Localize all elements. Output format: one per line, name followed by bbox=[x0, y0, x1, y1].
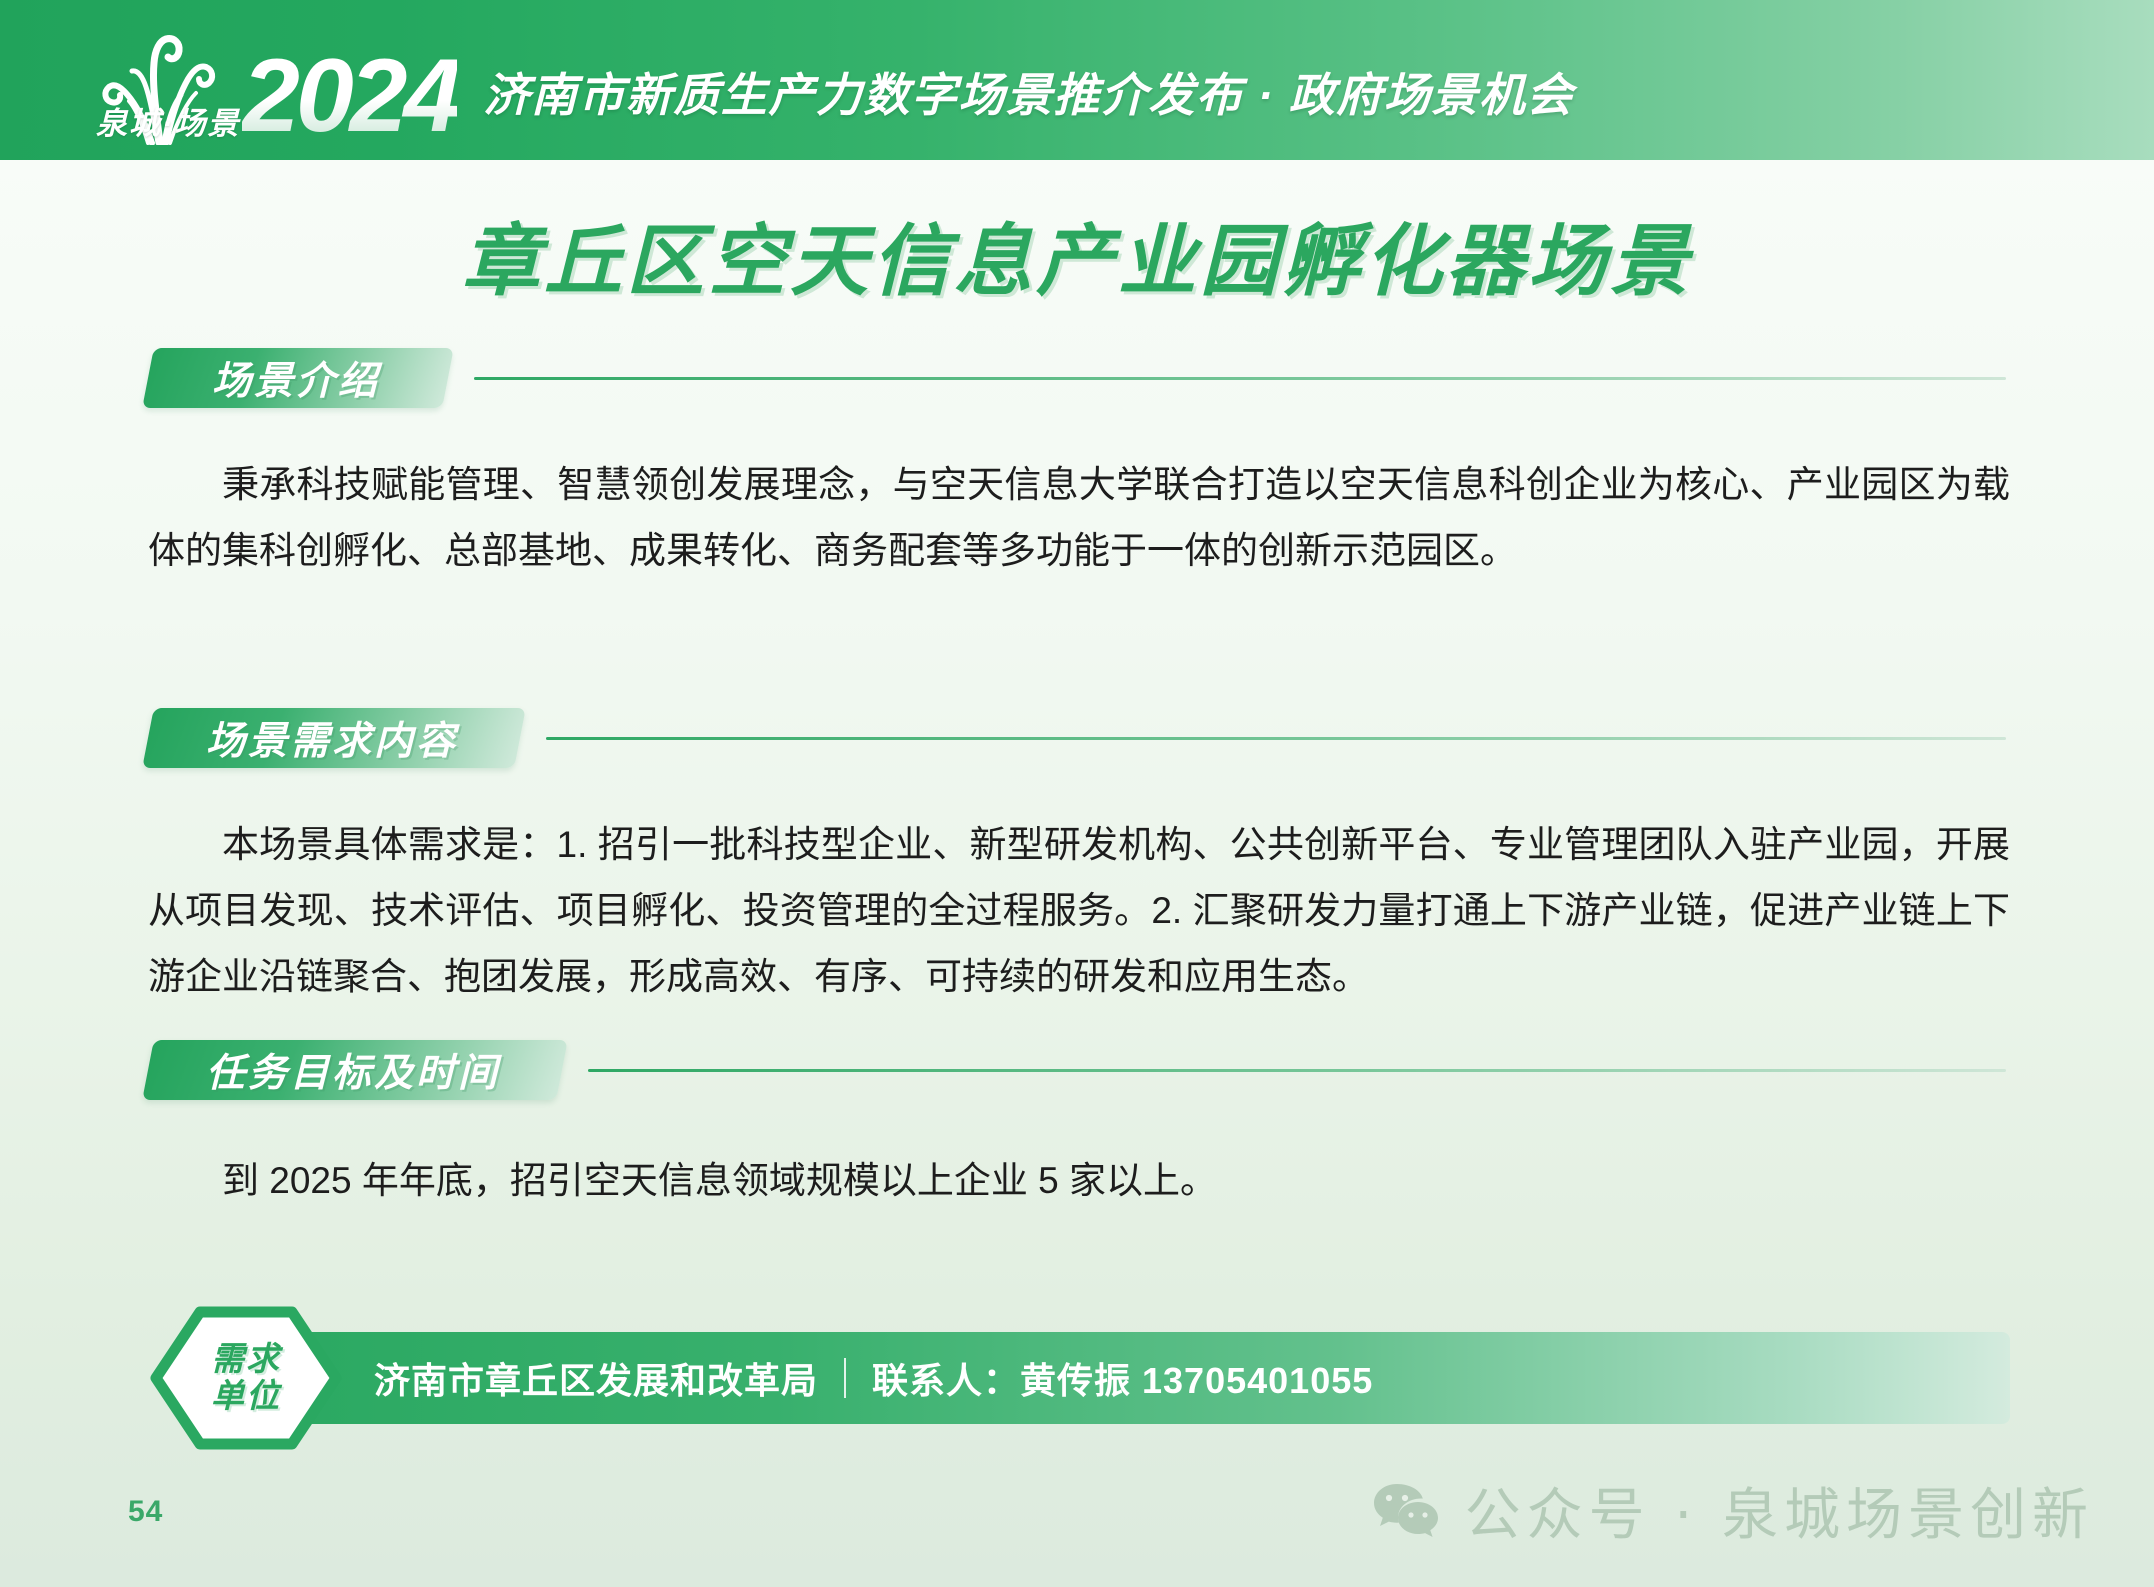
section-heading-pill: 场景介绍 bbox=[142, 348, 454, 408]
demand-unit-badge-label: 需求 单位 bbox=[211, 1341, 281, 1415]
section-heading-pill: 场景需求内容 bbox=[142, 708, 526, 768]
section-body-goal-timeline: 到 2025 年年底，招引空天信息领域规模以上企业 5 家以上。 bbox=[148, 1148, 2010, 1214]
contact-footer: 济南市章丘区发展和改革局 联系人：黄传振 13705401055 需求 单位 bbox=[148, 1332, 2010, 1424]
section-requirements: 场景需求内容 bbox=[0, 708, 2154, 768]
banner-title: 济南市新质生产力数字场景推介发布 · 政府场景机会 bbox=[483, 59, 1573, 125]
slide-page: 2024 济南市新质生产力数字场景推介发布 · 政府场景机会 泉城·场景 章丘区… bbox=[0, 0, 2154, 1587]
section-scene-intro: 场景介绍 bbox=[0, 348, 2154, 408]
section-header: 任务目标及时间 bbox=[0, 1040, 2154, 1100]
section-heading-label: 场景需求内容 bbox=[206, 710, 458, 766]
section-body-scene-intro: 秉承科技赋能管理、智慧领创发展理念，与空天信息大学联合打造以空天信息科创企业为核… bbox=[148, 452, 2010, 584]
contact-person: 联系人：黄传振 13705401055 bbox=[872, 1352, 1373, 1404]
watermark-text: 公众号 · 泉城场景创新 bbox=[1465, 1470, 2094, 1551]
section-heading-label: 场景介绍 bbox=[212, 350, 380, 406]
contact-organization: 济南市章丘区发展和改革局 bbox=[374, 1352, 818, 1404]
contact-bar: 济南市章丘区发展和改革局 联系人：黄传振 13705401055 bbox=[244, 1332, 2010, 1424]
watermark: 公众号 · 泉城场景创新 bbox=[1373, 1470, 2094, 1551]
section-divider-rule bbox=[546, 737, 2006, 740]
badge-line-1: 需求 bbox=[211, 1341, 281, 1378]
section-header: 场景需求内容 bbox=[0, 708, 2154, 768]
section-heading-pill: 任务目标及时间 bbox=[142, 1040, 568, 1100]
section-header: 场景介绍 bbox=[0, 348, 2154, 408]
section-heading-label: 任务目标及时间 bbox=[206, 1042, 500, 1098]
section-divider-rule bbox=[588, 1069, 2006, 1072]
banner-year: 2024 bbox=[242, 54, 457, 139]
badge-line-2: 单位 bbox=[211, 1378, 281, 1415]
top-banner: 2024 济南市新质生产力数字场景推介发布 · 政府场景机会 泉城·场景 bbox=[0, 0, 2154, 160]
contact-separator bbox=[844, 1358, 846, 1398]
section-goal-timeline: 任务目标及时间 bbox=[0, 1040, 2154, 1100]
logo-wordmark: 泉城·场景 bbox=[96, 98, 240, 143]
section-body-requirements: 本场景具体需求是：1. 招引一批科技型企业、新型研发机构、公共创新平台、专业管理… bbox=[148, 812, 2010, 1010]
page-number: 54 bbox=[128, 1495, 163, 1529]
contact-text: 济南市章丘区发展和改革局 联系人：黄传振 13705401055 bbox=[374, 1352, 1373, 1404]
page-title: 章丘区空天信息产业园孵化器场景 bbox=[0, 222, 2154, 300]
demand-unit-badge: 需求 单位 bbox=[148, 1304, 344, 1452]
wechat-icon bbox=[1373, 1482, 1439, 1540]
section-divider-rule bbox=[474, 377, 2006, 380]
